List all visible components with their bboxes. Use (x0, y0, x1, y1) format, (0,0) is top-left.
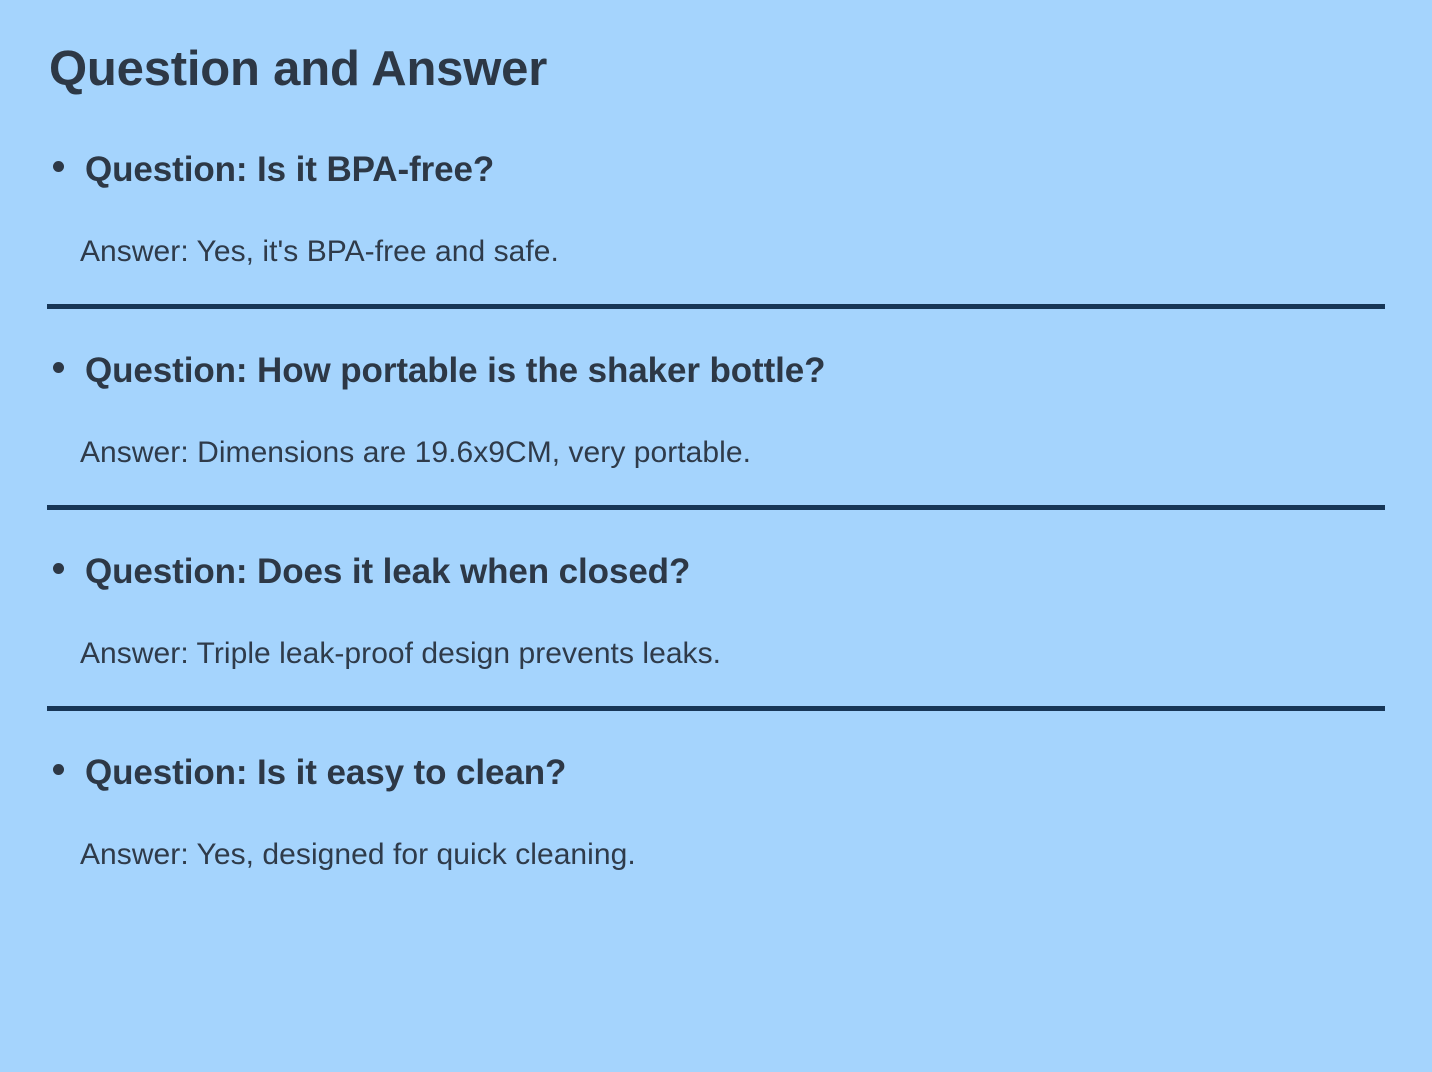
list-item: Question: Is it easy to clean? Answer: Y… (47, 754, 1385, 872)
question-answer-spacer (47, 592, 1385, 637)
answer-divider-spacer (47, 269, 1385, 304)
qa-page: Question and Answer Question: Is it BPA-… (0, 0, 1432, 1072)
qa-question: Question: Is it BPA-free? (85, 151, 494, 190)
qa-question: Question: Does it leak when closed? (85, 553, 690, 592)
title-spacer (47, 95, 1385, 151)
qa-question-row: Question: How portable is the shaker bot… (47, 352, 1385, 391)
qa-answer: Answer: Triple leak-proof design prevent… (80, 637, 1385, 672)
qa-question: Question: How portable is the shaker bot… (85, 352, 825, 391)
divider-question-spacer (47, 309, 1385, 352)
list-item: Question: How portable is the shaker bot… (47, 352, 1385, 553)
answer-divider-spacer (47, 470, 1385, 505)
question-answer-spacer (47, 391, 1385, 436)
qa-question-row: Question: Is it easy to clean? (47, 754, 1385, 793)
qa-question-row: Question: Does it leak when closed? (47, 553, 1385, 592)
bullet-icon (53, 764, 64, 775)
divider-question-spacer (47, 510, 1385, 553)
qa-answer: Answer: Yes, it's BPA-free and safe. (80, 235, 1385, 270)
qa-question: Question: Is it easy to clean? (85, 754, 566, 793)
bullet-icon (53, 161, 64, 172)
list-item: Question: Is it BPA-free? Answer: Yes, i… (47, 151, 1385, 352)
page-title: Question and Answer (49, 44, 1385, 95)
qa-answer: Answer: Dimensions are 19.6x9CM, very po… (80, 436, 1385, 471)
bullet-icon (53, 563, 64, 574)
question-answer-spacer (47, 793, 1385, 838)
qa-list: Question: Is it BPA-free? Answer: Yes, i… (47, 151, 1385, 872)
bullet-icon (53, 362, 64, 373)
divider-question-spacer (47, 711, 1385, 754)
qa-answer: Answer: Yes, designed for quick cleaning… (80, 838, 1385, 873)
qa-question-row: Question: Is it BPA-free? (47, 151, 1385, 190)
question-answer-spacer (47, 190, 1385, 235)
answer-divider-spacer (47, 671, 1385, 706)
list-item: Question: Does it leak when closed? Answ… (47, 553, 1385, 754)
